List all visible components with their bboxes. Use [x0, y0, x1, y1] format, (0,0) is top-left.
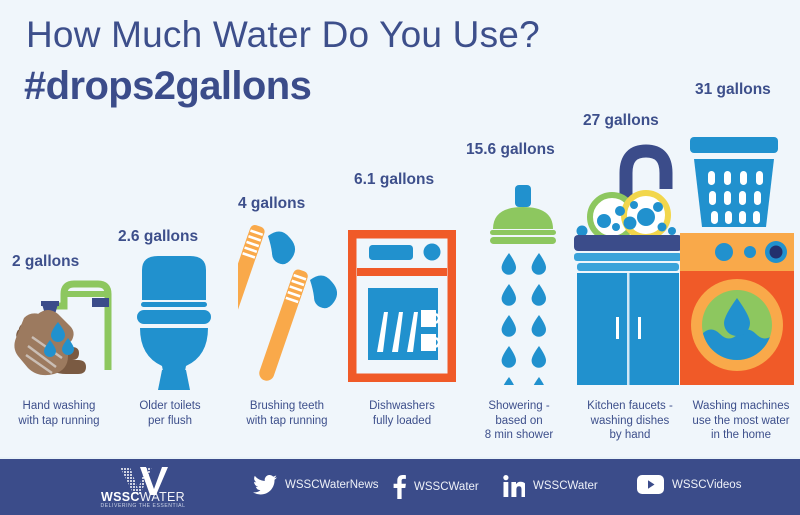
youtube-icon	[637, 475, 664, 494]
caption-brushing-teeth: Brushing teeth with tap running	[228, 399, 346, 428]
gallons-label-showering: 15.6 gallons	[466, 141, 555, 159]
footer-bar: WSSCWATER DELIVERING THE ESSENTIAL WSSCW…	[0, 457, 800, 515]
hand-washing-icon	[12, 272, 120, 390]
gallons-label-older-toilets: 2.6 gallons	[118, 228, 198, 246]
social-facebook[interactable]: WSSCWater	[393, 475, 479, 499]
logo-bold-text: WSSC	[101, 490, 140, 504]
logo-tagline: DELIVERING THE ESSENTIAL	[88, 503, 198, 509]
social-youtube[interactable]: WSSCVideos	[637, 475, 741, 494]
logo-light-text: WATER	[140, 490, 185, 504]
toilet-icon	[132, 252, 216, 392]
wssc-water-logo-text: WSSCWATER	[88, 490, 198, 504]
social-linkedin[interactable]: WSSCWater	[503, 475, 598, 497]
toothbrush-icon	[238, 222, 350, 390]
sink-icon	[568, 135, 688, 390]
facebook-handle: WSSCWater	[414, 481, 479, 493]
dishwasher-icon	[348, 230, 456, 382]
caption-hand-washing: Hand washing with tap running	[0, 399, 118, 428]
gallons-label-washing-machines: 31 gallons	[695, 81, 771, 99]
caption-dishwashers: Dishwashers fully loaded	[348, 399, 456, 428]
twitter-handle: WSSCWaterNews	[285, 479, 379, 491]
footer-divider	[0, 457, 800, 459]
twitter-icon	[253, 475, 277, 495]
shower-icon	[485, 185, 561, 385]
caption-kitchen-faucets: Kitchen faucets - washing dishes by hand	[575, 399, 685, 443]
gallons-label-kitchen-faucets: 27 gallons	[583, 112, 659, 130]
linkedin-icon	[503, 475, 525, 497]
youtube-handle: WSSCVideos	[672, 479, 741, 491]
washing-machine-icon	[678, 135, 796, 390]
gallons-label-brushing-teeth: 4 gallons	[238, 195, 305, 213]
linkedin-handle: WSSCWater	[533, 480, 598, 492]
gallons-label-dishwashers: 6.1 gallons	[354, 171, 434, 189]
facebook-icon	[393, 475, 406, 499]
caption-older-toilets: Older toilets per flush	[118, 399, 222, 428]
social-twitter[interactable]: WSSCWaterNews	[253, 475, 379, 495]
hashtag: #drops2gallons	[24, 64, 311, 109]
page-title: How Much Water Do You Use?	[26, 14, 540, 56]
gallons-label-hand-washing: 2 gallons	[12, 253, 79, 271]
caption-washing-machines: Washing machines use the most water in t…	[682, 399, 800, 443]
caption-showering: Showering - based on 8 min shower	[466, 399, 572, 443]
